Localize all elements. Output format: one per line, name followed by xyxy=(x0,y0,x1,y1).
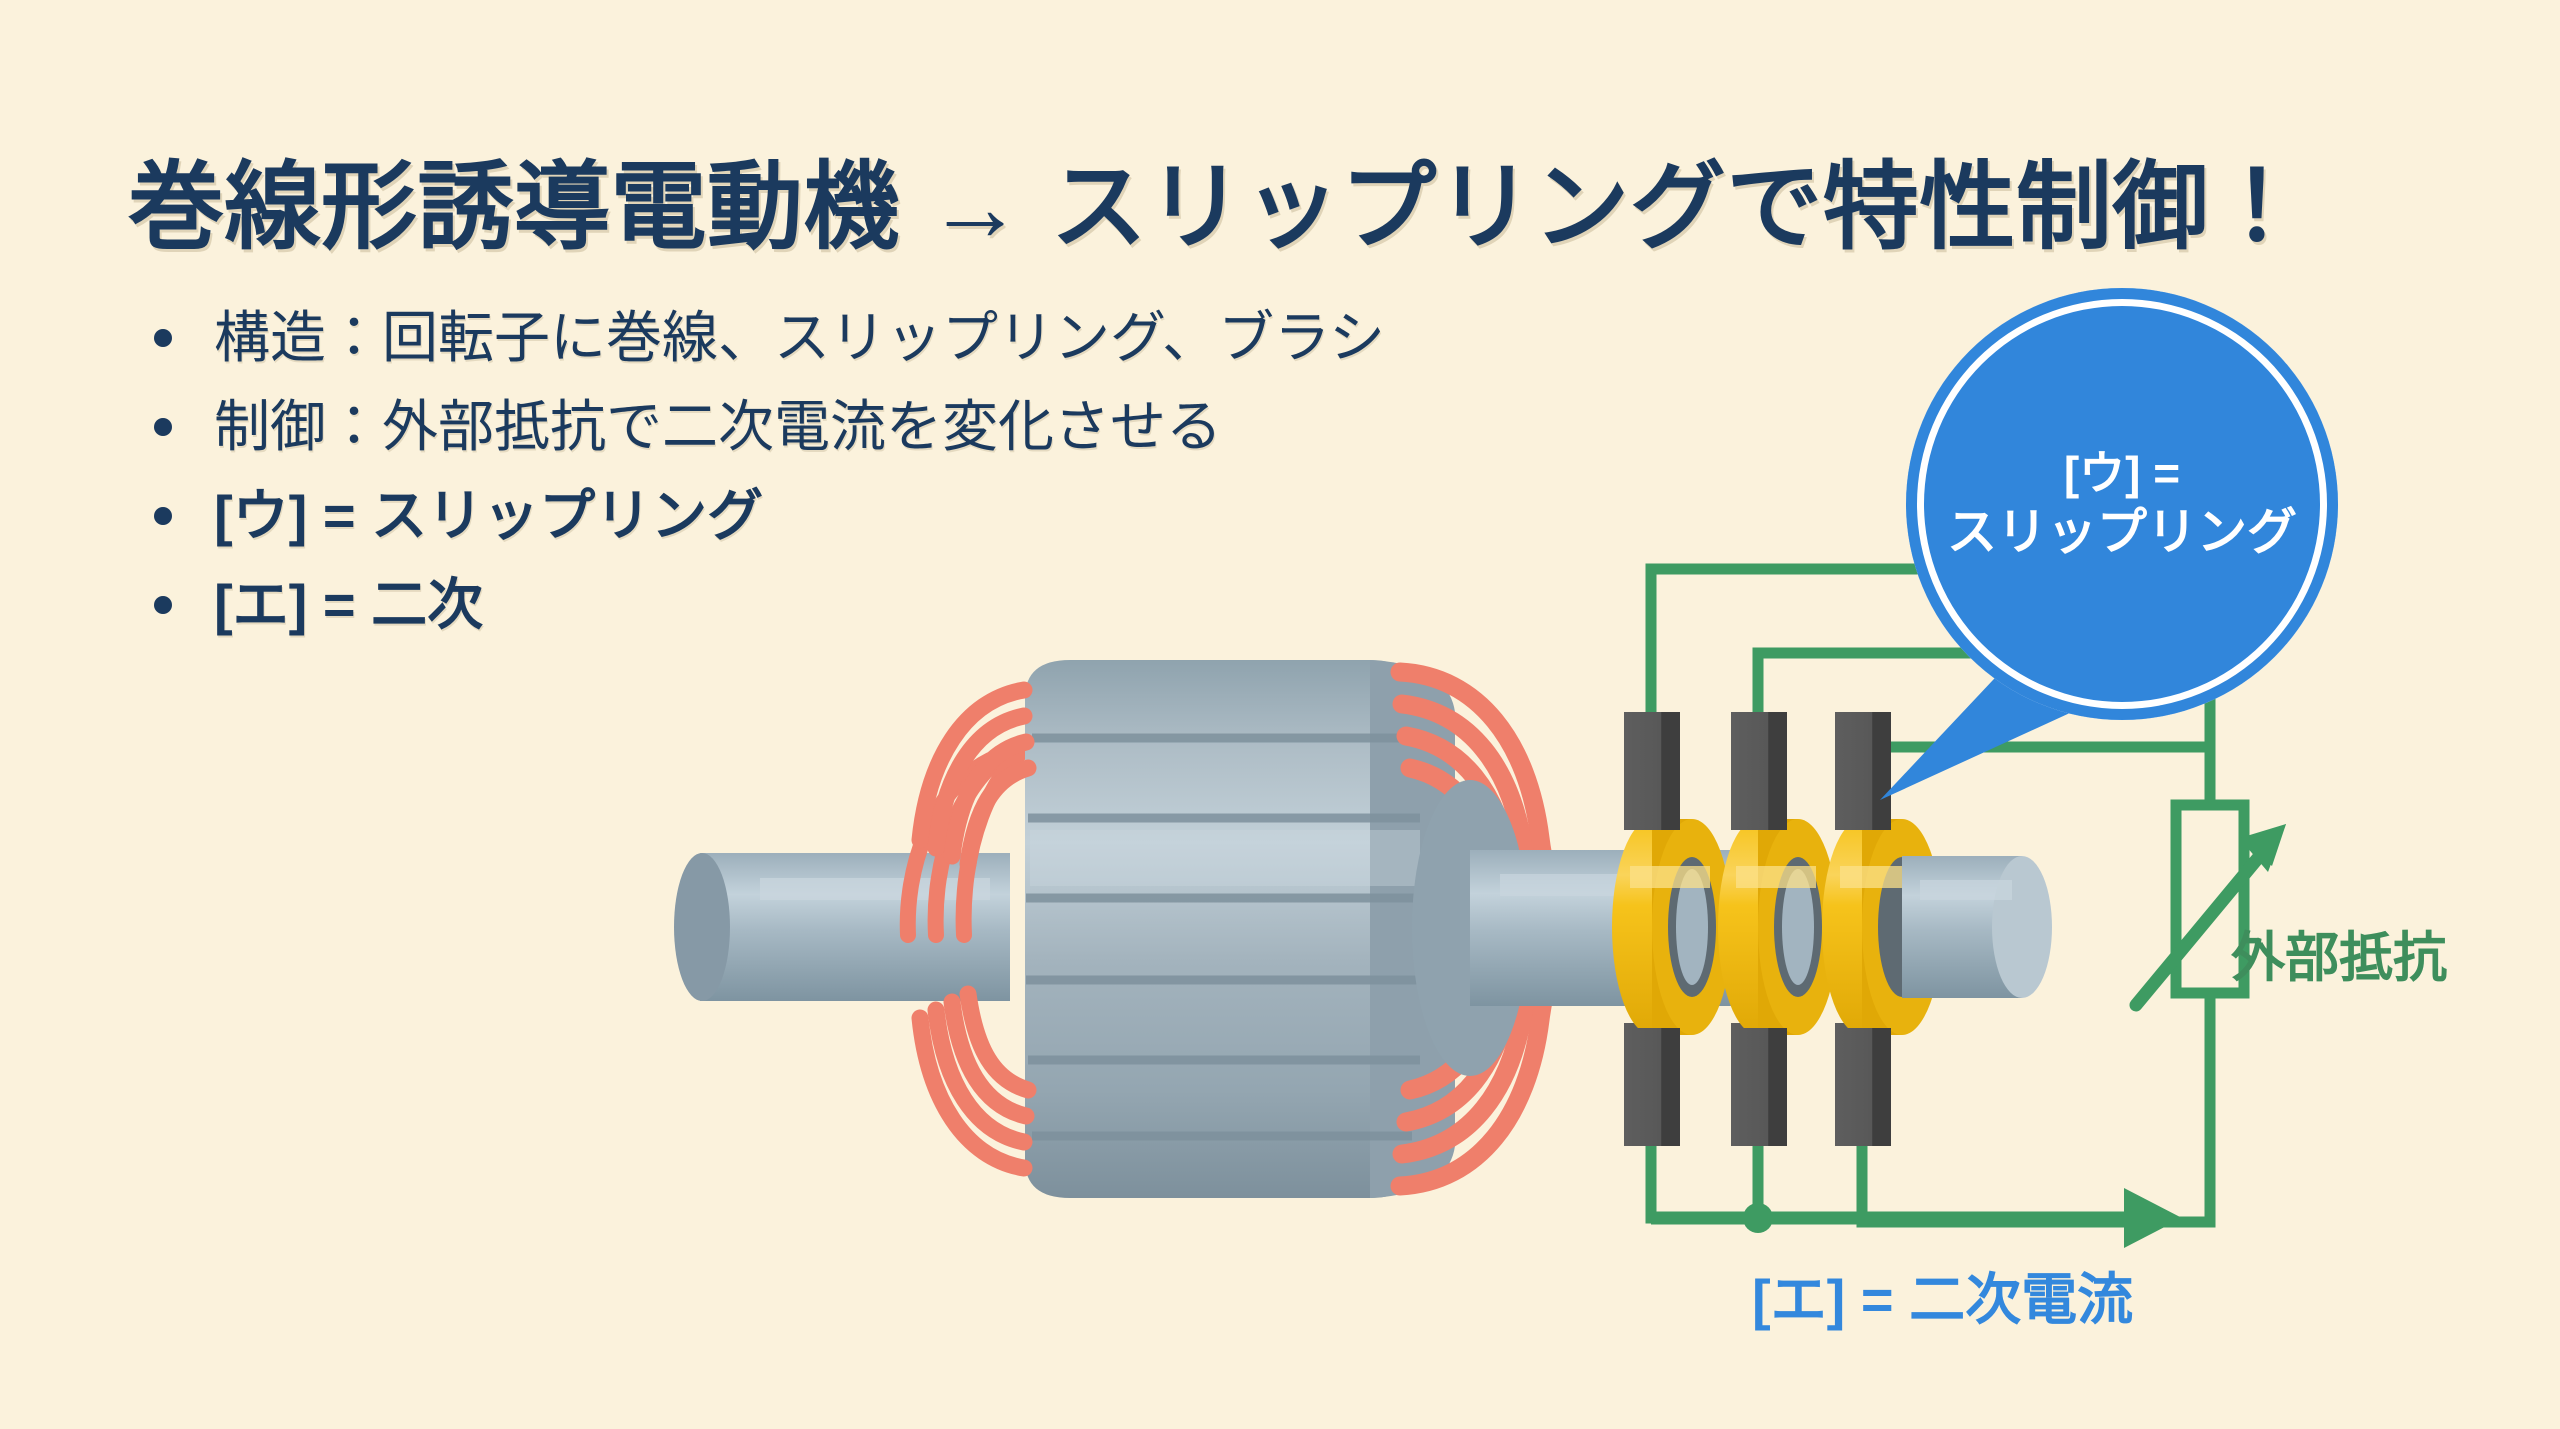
page-title: 巻線形誘導電動機 → スリップリングで特性制御！ xyxy=(128,156,2458,260)
bullet-text: [エ] = 二次 xyxy=(214,573,483,636)
secondary-current-label: [エ] = 二次電流 xyxy=(1752,1255,2133,1336)
slip-ring-callout: [ウ] = スリップリング xyxy=(1906,288,2338,720)
external-resistor-label: 外部抵抗 xyxy=(2231,913,2447,992)
bullet-dot-icon xyxy=(154,596,172,614)
slip-ring-assembly xyxy=(1612,819,2052,1035)
bullet-text: 構造：回転子に巻線、スリップリング、ブラシ xyxy=(214,306,1385,369)
slip-ring-2 xyxy=(1718,819,1838,1035)
secondary-current-arrow-icon xyxy=(1651,1188,2182,1248)
list-item: [エ] = 二次 xyxy=(140,567,1740,642)
bullet-dot-icon xyxy=(154,329,172,347)
callout-line-1: [ウ] = xyxy=(2064,445,2180,501)
list-item: [ウ] = スリップリング xyxy=(140,478,1740,553)
list-item: 構造：回転子に巻線、スリップリング、ブラシ xyxy=(140,300,1740,375)
bullet-text: [ウ] = スリップリング xyxy=(214,484,763,547)
slip-ring-1 xyxy=(1612,819,1732,1035)
bullet-dot-icon xyxy=(154,418,172,436)
bullet-text: 制御：外部抵抗で二次電流を変化させる xyxy=(214,395,1222,458)
list-item: 制御：外部抵抗で二次電流を変化させる xyxy=(140,389,1740,464)
callout-line-2: スリップリング xyxy=(1947,502,2297,563)
rotor-core xyxy=(1025,660,1455,1198)
slide-root: 巻線形誘導電動機 → スリップリングで特性制御！ 構造：回転子に巻線、スリップリ… xyxy=(0,0,2560,1429)
bullet-dot-icon xyxy=(154,507,172,525)
bullet-list: 構造：回転子に巻線、スリップリング、ブラシ 制御：外部抵抗で二次電流を変化させる… xyxy=(140,300,1740,656)
